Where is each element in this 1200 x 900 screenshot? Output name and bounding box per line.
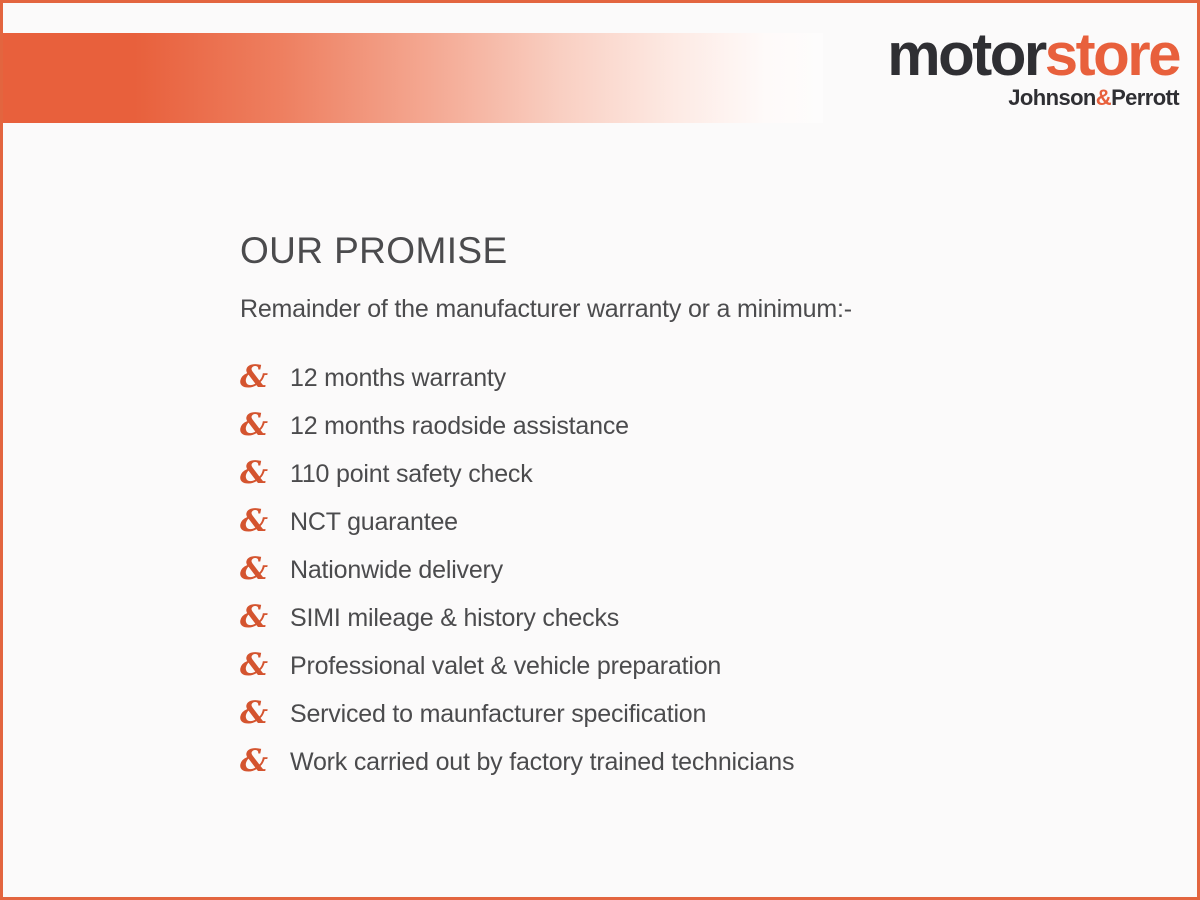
promise-content: OUR PROMISE Remainder of the manufacture…: [240, 231, 1140, 786]
ampersand-bullet-icon: &: [240, 698, 290, 729]
list-item-label: Professional valet & vehicle preparation: [290, 651, 721, 681]
motorstore-logo: motorstore Johnson&Perrott: [887, 25, 1179, 109]
ampersand-bullet-icon: &: [240, 410, 290, 441]
ampersand-bullet-icon: &: [240, 362, 290, 393]
list-item-label: 110 point safety check: [290, 459, 533, 489]
logo-johnson-text: Johnson: [1008, 85, 1095, 110]
list-item: & 110 point safety check: [240, 450, 1140, 498]
list-item-label: Work carried out by factory trained tech…: [290, 747, 794, 777]
list-item-label: Nationwide delivery: [290, 555, 503, 585]
list-item: & 12 months raodside assistance: [240, 402, 1140, 450]
logo-wordmark: motorstore: [887, 25, 1179, 85]
list-item: & Nationwide delivery: [240, 546, 1140, 594]
list-item: & NCT guarantee: [240, 498, 1140, 546]
list-item-label: NCT guarantee: [290, 507, 458, 537]
list-item-label: SIMI mileage & history checks: [290, 603, 619, 633]
list-item: & Professional valet & vehicle preparati…: [240, 642, 1140, 690]
list-item-label: Serviced to maunfacturer specification: [290, 699, 706, 729]
ampersand-bullet-icon: &: [240, 650, 290, 681]
ampersand-bullet-icon: &: [240, 602, 290, 633]
ampersand-bullet-icon: &: [240, 554, 290, 585]
slide-header: motorstore Johnson&Perrott: [3, 3, 1197, 128]
list-item: & SIMI mileage & history checks: [240, 594, 1140, 642]
logo-perrott-text: Perrott: [1111, 85, 1179, 110]
logo-store-text: store: [1045, 21, 1179, 88]
promise-slide: motorstore Johnson&Perrott OUR PROMISE R…: [0, 0, 1200, 900]
list-item: & 12 months warranty: [240, 354, 1140, 402]
list-item: & Serviced to maunfacturer specification: [240, 690, 1140, 738]
list-item-label: 12 months warranty: [290, 363, 506, 393]
promise-subtitle: Remainder of the manufacturer warranty o…: [240, 294, 1140, 324]
orange-gradient-bar: [3, 33, 823, 123]
promise-list: & 12 months warranty & 12 months raodsid…: [240, 354, 1140, 786]
page-title: OUR PROMISE: [240, 231, 1140, 272]
logo-dealer-name: Johnson&Perrott: [887, 87, 1179, 109]
ampersand-bullet-icon: &: [240, 746, 290, 777]
ampersand-bullet-icon: &: [240, 458, 290, 489]
ampersand-bullet-icon: &: [240, 506, 290, 537]
list-item-label: 12 months raodside assistance: [290, 411, 629, 441]
logo-ampersand-icon: &: [1096, 85, 1111, 110]
list-item: & Work carried out by factory trained te…: [240, 738, 1140, 786]
logo-motor-text: motor: [887, 21, 1044, 88]
